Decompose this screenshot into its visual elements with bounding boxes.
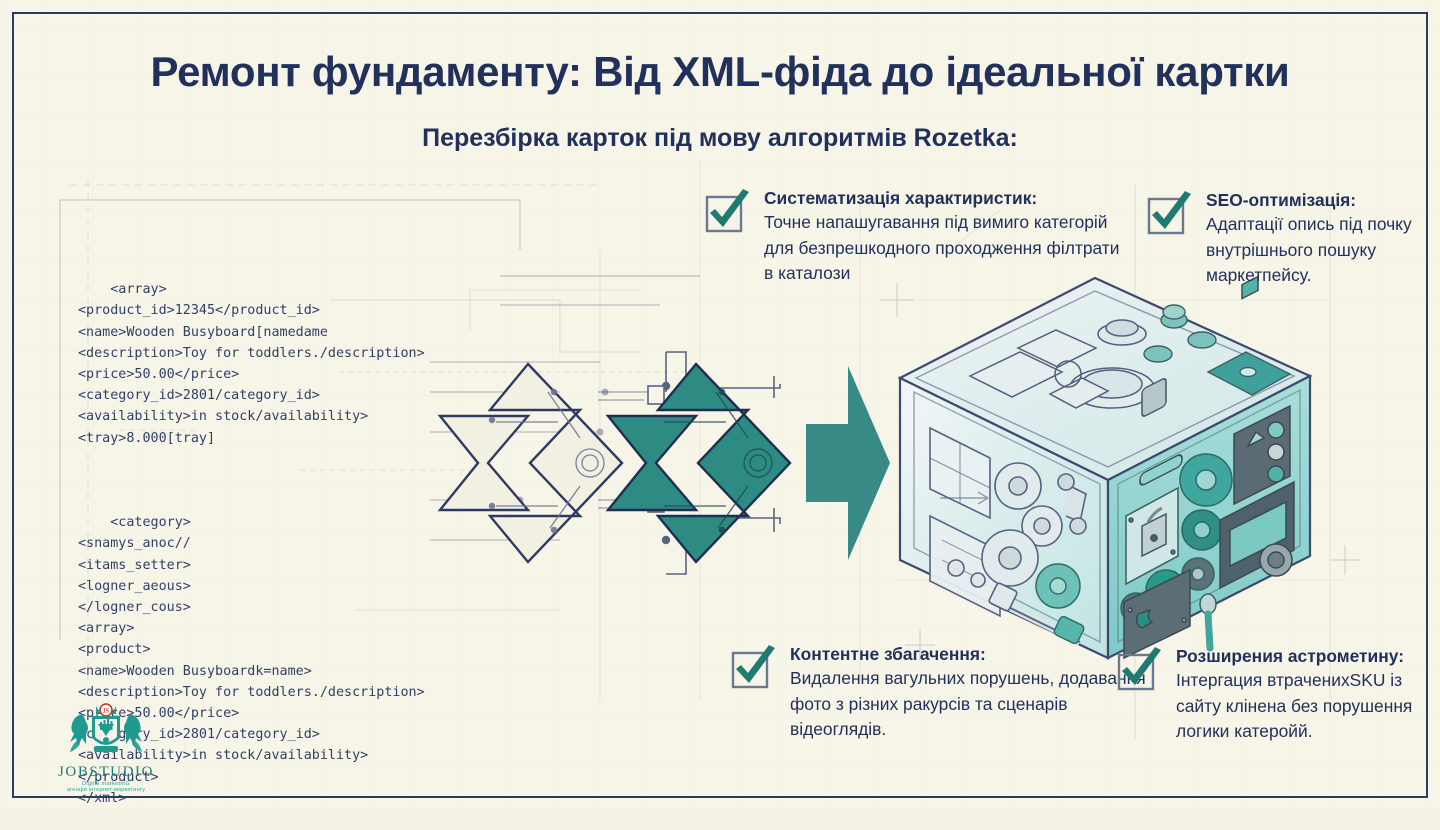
callout-text: Розширения астрометину: Інтергация втрач…: [1176, 644, 1434, 745]
arrow-solid-teal: [806, 366, 890, 560]
callout-assortment: Розширения астрометину: Інтергация втрач…: [1112, 644, 1434, 745]
check-icon: [726, 644, 778, 696]
callout-text: Контентне збагачення: Видалення вагульни…: [790, 642, 1146, 743]
svg-text:JS: JS: [103, 707, 110, 715]
logo-name: JOBSTUDIO: [44, 764, 168, 781]
callout-body: Адаптації опись під почку внутрішнього п…: [1206, 214, 1412, 285]
check-icon: [1112, 646, 1164, 698]
callout-heading: Контентне збагачення:: [790, 642, 1146, 666]
callout-systematization: Систематизація характиристик: Точне напа…: [700, 186, 1120, 287]
callout-heading: SEO-оптимізація:: [1206, 188, 1422, 212]
logo-subtitle: агенція інтернет-маркетингу: [44, 787, 168, 793]
callout-body: Точне напашугавання під вимиго категорій…: [764, 212, 1119, 283]
arrow-blueprint-teal: [608, 364, 790, 562]
callout-content: Контентне збагачення: Видалення вагульни…: [726, 642, 1146, 743]
callout-seo: SEO-оптимізація: Адаптації опись під поч…: [1142, 188, 1422, 289]
callout-text: Систематизація характиристик: Точне напа…: [764, 186, 1120, 287]
page-subtitle: Перезбірка карток під мову алгоритмів Ro…: [0, 124, 1440, 153]
check-icon: [1142, 190, 1194, 242]
code-spacer: [78, 470, 425, 491]
check-icon: [700, 188, 752, 240]
transformation-arrows: [430, 348, 890, 578]
callout-text: SEO-оптимізація: Адаптації опись під поч…: [1206, 188, 1422, 289]
callout-heading: Розширения астрометину:: [1176, 644, 1434, 668]
crest-icon: JS: [44, 700, 168, 758]
jobstudio-logo: JS JOBSTUDIO Digital marketinG агенція і…: [44, 700, 168, 788]
busyboard-cube-illustration: [890, 268, 1320, 668]
arrow-blueprint-outline: [440, 364, 622, 562]
code-group-1: <array> <product_id>12345</product_id> <…: [78, 282, 425, 445]
infographic-page: Ремонт фундаменту: Від XML-фіда до ідеал…: [0, 0, 1440, 810]
callout-heading: Систематизація характиристик:: [764, 186, 1120, 210]
page-title: Ремонт фундаменту: Від XML-фіда до ідеал…: [0, 48, 1440, 96]
callout-body: Видалення вагульних порушень, додавання …: [790, 668, 1146, 739]
callout-body: Інтергация втраченихSKU із сайту клінена…: [1176, 670, 1412, 741]
